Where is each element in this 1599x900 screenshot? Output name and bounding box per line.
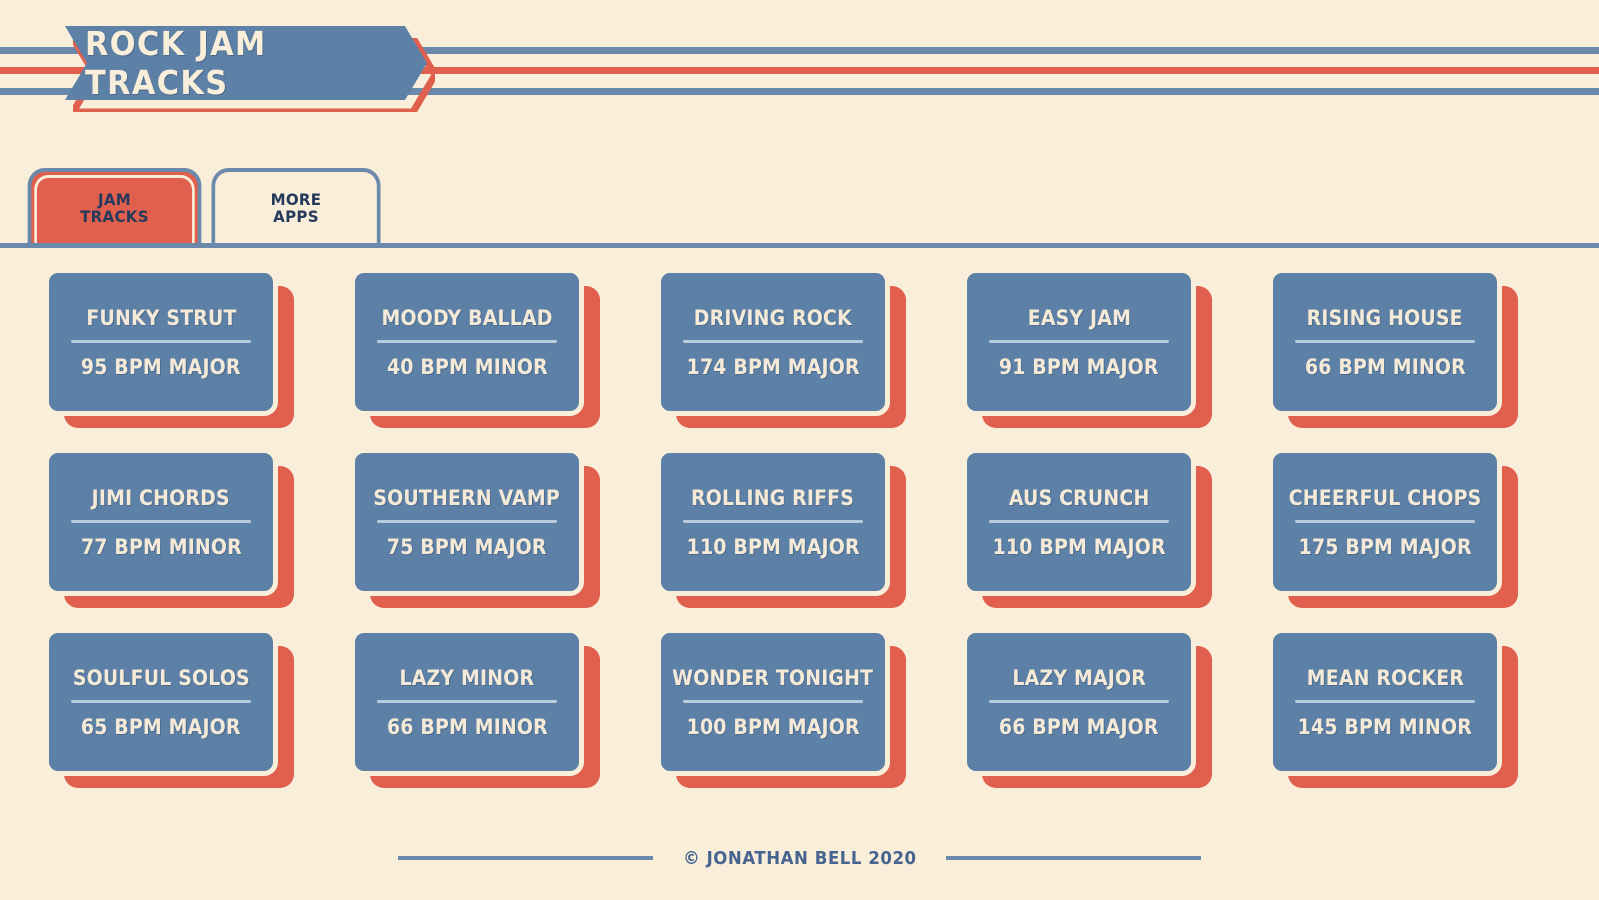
track-card-divider	[71, 340, 251, 343]
track-card-meta: 66 BPM MINOR	[1305, 355, 1466, 379]
track-card[interactable]: LAZY MINOR 66 BPM MINOR	[350, 628, 584, 776]
track-card-divider	[989, 340, 1169, 343]
track-card[interactable]: FUNKY STRUT 95 BPM MAJOR	[44, 268, 278, 416]
track-card-meta: 95 BPM MAJOR	[81, 355, 241, 379]
track-card-title: ROLLING RIFFS	[691, 486, 854, 510]
track-card-meta: 77 BPM MINOR	[81, 535, 242, 559]
track-card-title: AUS CRUNCH	[1009, 486, 1150, 510]
track-card-divider	[1295, 340, 1475, 343]
track-card-slot: AUS CRUNCH 110 BPM MAJOR	[962, 448, 1212, 608]
track-card-slot: JIMI CHORDS 77 BPM MINOR	[44, 448, 294, 608]
track-card-slot: FUNKY STRUT 95 BPM MAJOR	[44, 268, 294, 428]
track-card-meta: 175 BPM MAJOR	[1298, 535, 1471, 559]
track-card-divider	[1295, 520, 1475, 523]
tab-jam-tracks[interactable]: JAM TRACKS	[28, 168, 202, 246]
track-card-slot: WONDER TONIGHT 100 BPM MAJOR	[656, 628, 906, 788]
track-card-divider	[71, 700, 251, 703]
page-title: ROCK JAM TRACKS	[79, 26, 412, 100]
track-card[interactable]: LAZY MAJOR 66 BPM MAJOR	[962, 628, 1196, 776]
track-card[interactable]: EASY JAM 91 BPM MAJOR	[962, 268, 1196, 416]
track-card-title: LAZY MAJOR	[1012, 666, 1146, 690]
track-card[interactable]: JIMI CHORDS 77 BPM MINOR	[44, 448, 278, 596]
track-card[interactable]: SOULFUL SOLOS 65 BPM MAJOR	[44, 628, 278, 776]
tab-jam-tracks-line2: TRACKS	[80, 209, 149, 226]
track-card-title: RISING HOUSE	[1307, 306, 1463, 330]
track-card-meta: 174 BPM MAJOR	[686, 355, 859, 379]
app-header: ROCK JAM TRACKS	[0, 0, 1599, 140]
track-card-title: MEAN ROCKER	[1306, 666, 1463, 690]
track-card-slot: DRIVING ROCK 174 BPM MAJOR	[656, 268, 906, 428]
track-card-meta: 75 BPM MAJOR	[387, 535, 547, 559]
track-card[interactable]: RISING HOUSE 66 BPM MINOR	[1268, 268, 1502, 416]
track-card-divider	[683, 520, 863, 523]
track-card-divider	[377, 700, 557, 703]
track-card[interactable]: MEAN ROCKER 145 BPM MINOR	[1268, 628, 1502, 776]
track-card-title: DRIVING ROCK	[694, 306, 852, 330]
track-card-slot: LAZY MINOR 66 BPM MINOR	[350, 628, 600, 788]
track-card-title: WONDER TONIGHT	[672, 666, 873, 690]
track-card-meta: 40 BPM MINOR	[387, 355, 548, 379]
track-card-slot: MOODY BALLAD 40 BPM MINOR	[350, 268, 600, 428]
track-card-meta: 145 BPM MINOR	[1298, 715, 1472, 739]
track-card-divider	[683, 700, 863, 703]
track-card-divider	[989, 520, 1169, 523]
track-card-divider	[1295, 700, 1475, 703]
track-card-meta: 100 BPM MAJOR	[686, 715, 859, 739]
tab-more-apps[interactable]: MORE APPS	[211, 168, 380, 246]
track-card[interactable]: AUS CRUNCH 110 BPM MAJOR	[962, 448, 1196, 596]
track-card-slot: SOULFUL SOLOS 65 BPM MAJOR	[44, 628, 294, 788]
track-card-meta: 65 BPM MAJOR	[81, 715, 241, 739]
track-card[interactable]: WONDER TONIGHT 100 BPM MAJOR	[656, 628, 890, 776]
track-card-divider	[989, 700, 1169, 703]
copyright-text: © JONATHAN BELL 2020	[683, 848, 916, 869]
track-card-title: MOODY BALLAD	[381, 306, 552, 330]
track-card-slot: ROLLING RIFFS 110 BPM MAJOR	[656, 448, 906, 608]
track-card-meta: 66 BPM MINOR	[387, 715, 548, 739]
track-card-title: FUNKY STRUT	[86, 306, 236, 330]
track-card[interactable]: MOODY BALLAD 40 BPM MINOR	[350, 268, 584, 416]
track-card-slot: RISING HOUSE 66 BPM MINOR	[1268, 268, 1518, 428]
track-card-divider	[71, 520, 251, 523]
track-card-divider	[377, 340, 557, 343]
track-card[interactable]: CHEERFUL CHOPS 175 BPM MAJOR	[1268, 448, 1502, 596]
track-card-title: JIMI CHORDS	[92, 486, 230, 510]
track-card-slot: SOUTHERN VAMP 75 BPM MAJOR	[350, 448, 600, 608]
footer-rule-right	[946, 856, 1201, 860]
tab-bar: JAM TRACKS MORE APPS	[0, 168, 1599, 250]
track-card-title: SOUTHERN VAMP	[374, 486, 561, 510]
track-card-title: EASY JAM	[1027, 306, 1130, 330]
track-card-meta: 110 BPM MAJOR	[686, 535, 859, 559]
track-card-meta: 66 BPM MAJOR	[999, 715, 1159, 739]
track-card-meta: 91 BPM MAJOR	[999, 355, 1159, 379]
track-card[interactable]: DRIVING ROCK 174 BPM MAJOR	[656, 268, 890, 416]
tab-bar-rule	[0, 243, 1599, 248]
track-card-slot: CHEERFUL CHOPS 175 BPM MAJOR	[1268, 448, 1518, 608]
track-card-title: CHEERFUL CHOPS	[1289, 486, 1482, 510]
title-banner: ROCK JAM TRACKS	[65, 26, 435, 106]
tab-more-apps-line2: APPS	[273, 209, 319, 226]
track-card-divider	[377, 520, 557, 523]
track-card-divider	[683, 340, 863, 343]
track-card[interactable]: ROLLING RIFFS 110 BPM MAJOR	[656, 448, 890, 596]
track-card-meta: 110 BPM MAJOR	[992, 535, 1165, 559]
track-card-slot: EASY JAM 91 BPM MAJOR	[962, 268, 1212, 428]
track-card-slot: LAZY MAJOR 66 BPM MAJOR	[962, 628, 1212, 788]
track-card-title: SOULFUL SOLOS	[72, 666, 249, 690]
app-footer: © JONATHAN BELL 2020	[0, 838, 1599, 878]
footer-rule-left	[398, 856, 653, 860]
jam-track-grid: FUNKY STRUT 95 BPM MAJOR MOODY BALLAD 40…	[0, 258, 1599, 798]
track-card[interactable]: SOUTHERN VAMP 75 BPM MAJOR	[350, 448, 584, 596]
track-card-title: LAZY MINOR	[400, 666, 535, 690]
track-card-slot: MEAN ROCKER 145 BPM MINOR	[1268, 628, 1518, 788]
